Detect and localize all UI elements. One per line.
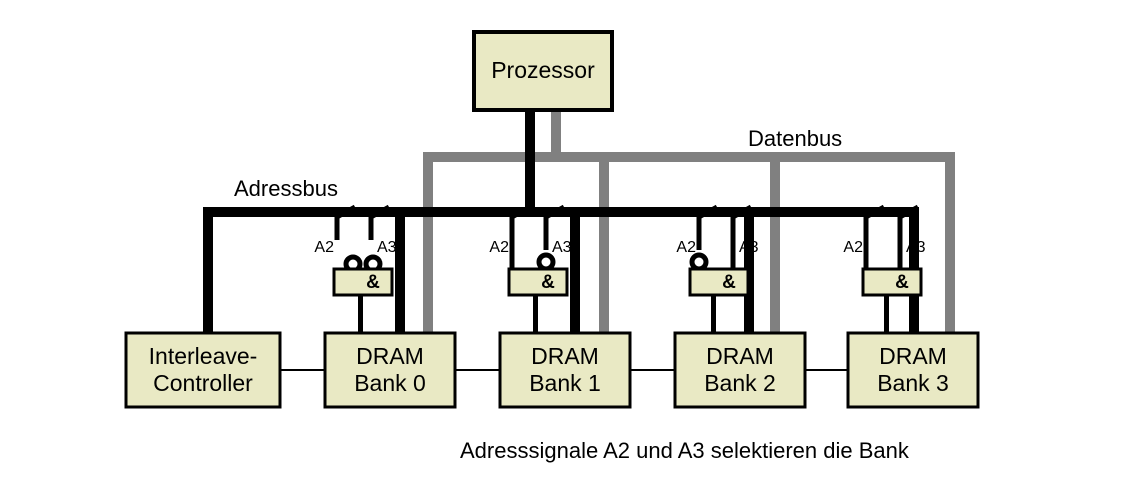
interleave-controller-label-line2: Controller <box>153 370 253 396</box>
address-bus-drop-controller <box>203 207 213 334</box>
bank3-a3-label: A3 <box>906 239 926 256</box>
dram-bank3-label-line1: DRAM <box>879 343 947 369</box>
data-bus-group <box>423 108 955 334</box>
dram-bank0-label-line2: Bank 0 <box>354 370 426 396</box>
bank2-a2-contact-open-icon <box>692 255 706 269</box>
data-bus-processor-drop <box>551 108 561 156</box>
dram-bank2-label-line1: DRAM <box>706 343 774 369</box>
bank0-a2-label: A2 <box>314 239 334 256</box>
dram-bank1-label-line2: Bank 1 <box>529 370 601 396</box>
bank2-and-symbol-icon: & <box>722 272 736 293</box>
bank1-gate-output-line <box>533 295 538 335</box>
dram-bank0-label-line1: DRAM <box>356 343 424 369</box>
bank2-a2-label: A2 <box>676 239 696 256</box>
data-bus-drop-bank1 <box>599 152 609 334</box>
bank1-and-symbol-icon: & <box>541 272 555 293</box>
diagram-caption: Adresssignale A2 und A3 selektieren die … <box>460 438 910 463</box>
bank1-switch-group[interactable]: A2 A3 & <box>489 207 571 335</box>
bank2-gate-box <box>690 269 748 295</box>
data-bus-label: Datenbus <box>748 126 842 151</box>
dram-bank0-box[interactable]: DRAM Bank 0 <box>325 333 455 407</box>
address-bus-drop-bank0 <box>395 207 405 334</box>
bank2-group: A2 A3 & DRAM Bank 2 <box>675 207 805 407</box>
bank0-and-symbol-icon: & <box>366 272 380 293</box>
bank1-a3-label: A3 <box>552 239 572 256</box>
data-bus-drop-bank3 <box>945 152 955 334</box>
data-bus-drop-bank2 <box>770 152 780 334</box>
bank0-gate-box <box>334 269 392 295</box>
bank0-group: A2 A3 & DRAM Bank 0 <box>314 207 455 407</box>
data-bus-horizontal <box>428 152 955 162</box>
interleaving-diagram: Adressbus Datenbus Prozessor Interleave-… <box>0 0 1146 500</box>
processor-label: Prozessor <box>491 57 595 83</box>
bank3-gate-output-line <box>884 295 889 335</box>
diagram-canvas: Adressbus Datenbus Prozessor Interleave-… <box>0 0 1146 500</box>
bank1-gate-box <box>509 269 567 295</box>
bank0-gate-output-line <box>358 295 363 335</box>
bank0-switch-group[interactable]: A2 A3 & <box>314 207 396 335</box>
interleave-controller-box[interactable]: Interleave- Controller <box>126 333 280 407</box>
address-bus-drop-bank1 <box>570 207 580 334</box>
dram-bank2-label-line2: Bank 2 <box>704 370 776 396</box>
bank1-a2-label: A2 <box>489 239 509 256</box>
bank2-a3-label: A3 <box>739 239 759 256</box>
bank1-a3-contact-open-icon <box>539 255 553 269</box>
dram-bank3-label-line2: Bank 3 <box>877 370 949 396</box>
dram-bank1-box[interactable]: DRAM Bank 1 <box>500 333 630 407</box>
address-bus-label: Adressbus <box>234 176 338 201</box>
dram-bank1-label-line1: DRAM <box>531 343 599 369</box>
dram-bank3-box[interactable]: DRAM Bank 3 <box>848 333 978 407</box>
processor-box[interactable]: Prozessor <box>474 32 612 110</box>
dram-bank2-box[interactable]: DRAM Bank 2 <box>675 333 805 407</box>
bank2-gate-output-line <box>711 295 716 335</box>
data-bus-drop-bank0 <box>423 152 433 334</box>
address-bus-processor-drop <box>525 108 535 211</box>
bank3-gate-box <box>863 269 921 295</box>
interleave-controller-label-line1: Interleave- <box>149 343 258 369</box>
bank3-and-symbol-icon: & <box>895 272 909 293</box>
bank3-a2-label: A2 <box>843 239 863 256</box>
bank0-a3-label: A3 <box>377 239 397 256</box>
